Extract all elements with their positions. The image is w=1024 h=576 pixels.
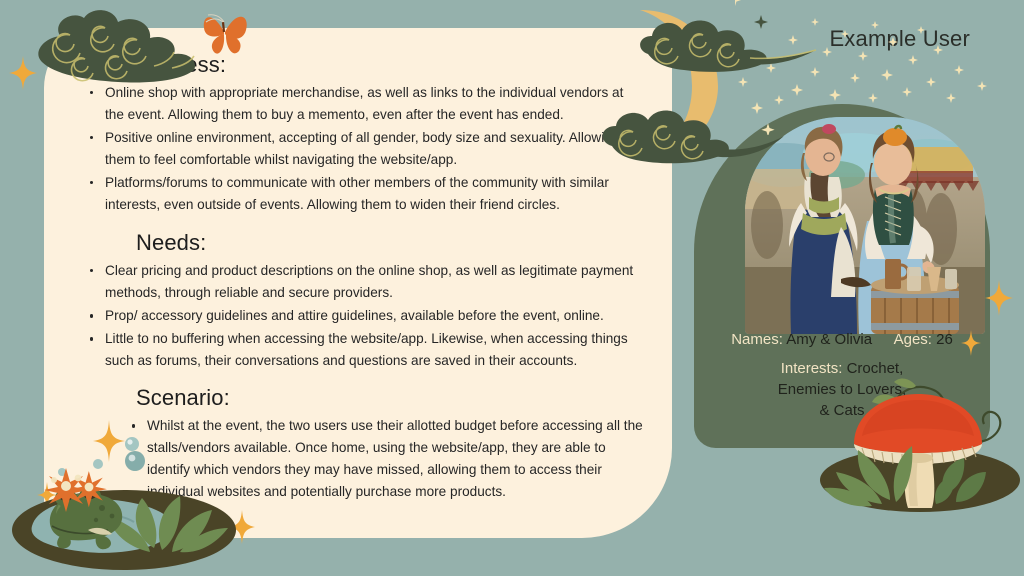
profile-interests: Interests: Crochet, Enemies to Lovers, &… (694, 358, 990, 422)
section-needs: Needs: Clear pricing and product descrip… (76, 230, 646, 372)
user-photo (745, 117, 985, 334)
list-item: Platforms/forums to communicate with oth… (86, 172, 646, 216)
slide-canvas: Example User Success: Online shop with a… (0, 0, 1024, 576)
list-item: Clear pricing and product descriptions o… (86, 260, 646, 304)
section-heading-success: Success: (136, 52, 646, 78)
sparkle-left (8, 56, 38, 90)
interests-value-2: Enemies to Lovers, (694, 379, 990, 400)
list-item: Prop/ accessory guidelines and attire gu… (86, 305, 646, 327)
profile-info: Names: Amy & Olivia Ages: 26 Interests: … (694, 332, 990, 421)
interests-label: Interests: (781, 360, 843, 377)
list-item: Online shop with appropriate merchandise… (86, 82, 646, 126)
section-heading-needs: Needs: (136, 230, 646, 256)
names-label: Names: (731, 331, 783, 348)
bullet-list-success: Online shop with appropriate merchandise… (86, 82, 646, 216)
bullet-list-scenario: Whilst at the event, the two users use t… (128, 415, 646, 503)
names-value: Amy & Olivia (786, 331, 872, 348)
list-item: Whilst at the event, the two users use t… (128, 415, 646, 503)
interests-value-1: Crochet, (847, 360, 904, 377)
page-title: Example User (829, 26, 970, 52)
section-scenario: Scenario: Whilst at the event, the two u… (76, 385, 646, 503)
interests-value-3: & Cats (694, 400, 990, 421)
list-item: Little to no buffering when accessing th… (86, 328, 646, 372)
list-item: Positive online environment, accepting o… (86, 127, 646, 171)
bullet-list-needs: Clear pricing and product descriptions o… (86, 260, 646, 372)
ages-label: Ages: (894, 331, 932, 348)
section-heading-scenario: Scenario: (136, 385, 646, 411)
section-success: Success: Online shop with appropriate me… (76, 52, 646, 216)
interests-line-1: Interests: Crochet, (694, 358, 990, 379)
ages-value: 26 (936, 331, 953, 348)
content-body: Success: Online shop with appropriate me… (44, 28, 672, 538)
profile-names-ages-row: Names: Amy & Olivia Ages: 26 (694, 332, 990, 349)
